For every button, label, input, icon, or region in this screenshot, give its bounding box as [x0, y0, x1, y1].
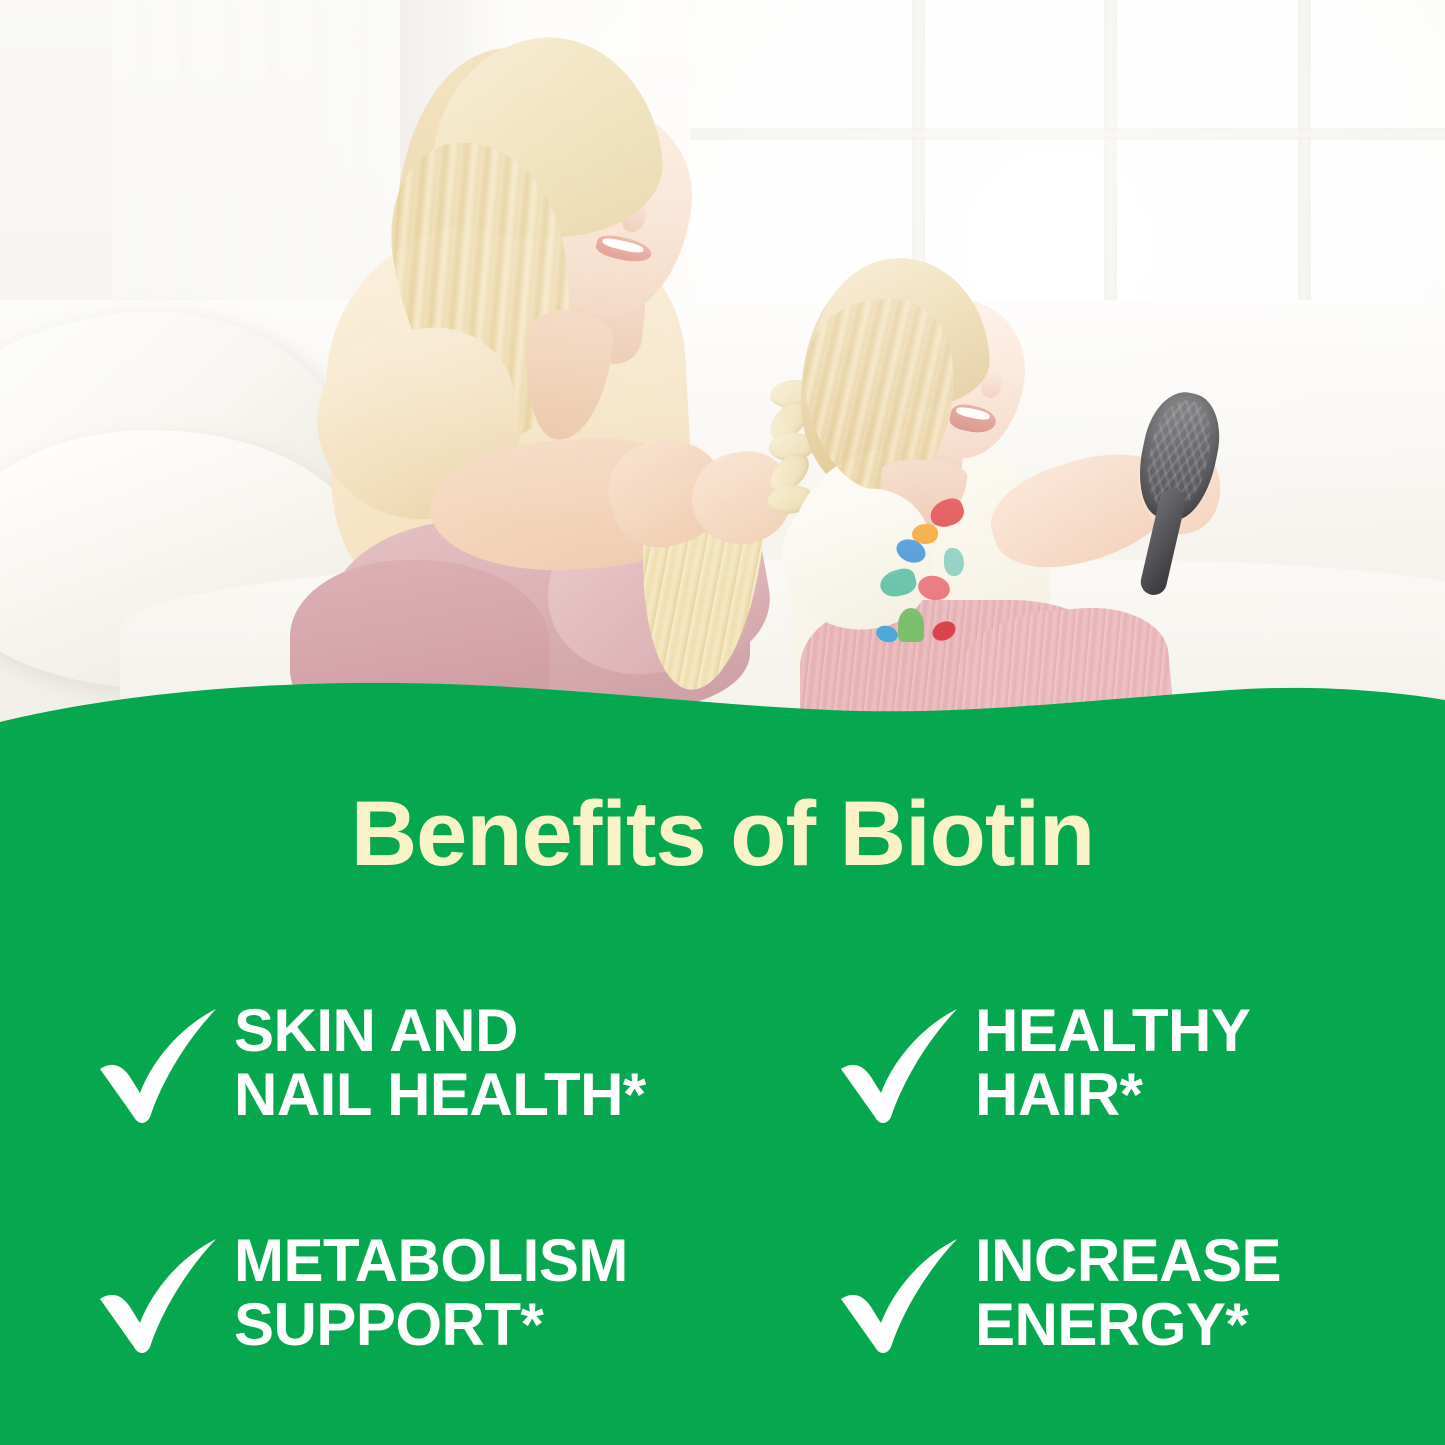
page-title: Benefits of Biotin	[0, 788, 1445, 880]
product-benefits-infographic: Benefits of Biotin SKIN AND NAIL HEALTH*	[0, 0, 1445, 1445]
benefit-item-metabolism-support[interactable]: METABOLISM SUPPORT*	[0, 1178, 745, 1408]
benefits-section: Benefits of Biotin SKIN AND NAIL HEALTH*	[0, 700, 1445, 1445]
checkmark-icon	[96, 1229, 224, 1357]
benefit-item-increase-energy[interactable]: INCREASE ENERGY*	[745, 1178, 1445, 1408]
hero-photo	[0, 0, 1445, 740]
checkmark-icon	[837, 999, 965, 1127]
shirt-print-motif	[944, 548, 964, 576]
shirt-print-motif	[898, 608, 924, 642]
benefit-item-skin-and-nail-health[interactable]: SKIN AND NAIL HEALTH*	[0, 948, 745, 1178]
benefit-label: SKIN AND NAIL HEALTH*	[234, 999, 646, 1126]
benefit-label: INCREASE ENERGY*	[975, 1229, 1281, 1356]
checkmark-icon	[96, 999, 224, 1127]
benefit-label: HEALTHY HAIR*	[975, 999, 1250, 1126]
benefit-label: METABOLISM SUPPORT*	[234, 1229, 628, 1356]
window-mullion-horizontal	[690, 128, 1445, 140]
benefits-grid: SKIN AND NAIL HEALTH* HEALTHY HAIR*	[0, 948, 1445, 1408]
checkmark-icon	[837, 1229, 965, 1357]
benefit-item-healthy-hair[interactable]: HEALTHY HAIR*	[745, 948, 1445, 1178]
